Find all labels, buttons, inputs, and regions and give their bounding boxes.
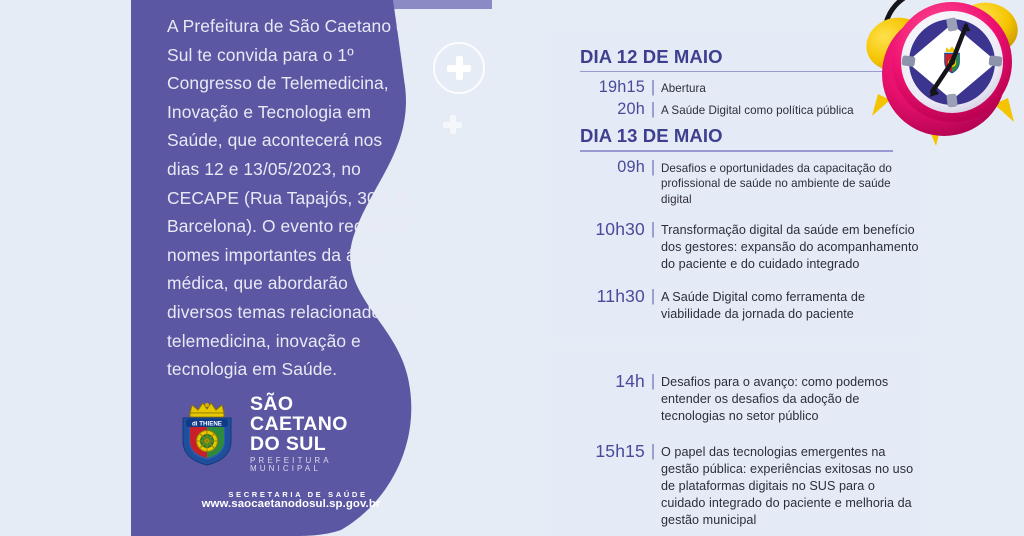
wordmark-line-1: SÃO (250, 394, 406, 414)
schedule-row: 11h30 | A Saúde Digital como ferramenta … (553, 287, 920, 323)
website-url: www.saocaetanodosul.sp.gov.br (176, 498, 406, 510)
schedule-time: 09h (553, 158, 645, 177)
schedule-separator: | (645, 372, 661, 391)
wordmark-line-2: CAETANO (250, 414, 406, 434)
day-divider (580, 71, 893, 72)
schedule-time: 11h30 (553, 287, 645, 306)
alarm-clock-icon (856, 0, 1024, 148)
schedule-card: 14h | Desafios para o avanço: como podem… (553, 354, 920, 536)
schedule-description: A Saúde Digital como ferramenta de viabi… (661, 287, 920, 323)
schedule-time: 20h (553, 100, 645, 119)
schedule-row: 10h30 | Transformação digital da saúde e… (553, 220, 920, 274)
schedule-separator: | (645, 287, 661, 306)
invitation-paragraph: A Prefeitura de São Caetano do Sul te co… (167, 12, 417, 384)
schedule-description: O papel das tecnologias emergentes na ge… (661, 442, 920, 530)
schedule-separator: | (645, 100, 661, 119)
poster-canvas: A Prefeitura de São Caetano do Sul te co… (0, 0, 1024, 536)
wordmark-line-3: DO SUL (250, 434, 406, 454)
schedule-row: 09h | Desafios e oportunidades da capaci… (553, 158, 920, 207)
svg-text:di THIENE: di THIENE (192, 420, 222, 427)
schedule-row: 14h | Desafios para o avanço: como podem… (553, 372, 920, 426)
schedule-time: 10h30 (553, 220, 645, 239)
schedule-time: 14h (553, 372, 645, 391)
schedule-day-group: DIA 13 DE MAIO 09h | Desafios e oportuni… (553, 125, 920, 323)
schedule-row: 15h15 | O papel das tecnologias emergent… (553, 442, 920, 530)
schedule-separator: | (645, 220, 661, 239)
city-crest-icon: di THIENE (176, 399, 238, 467)
day-divider (580, 150, 893, 151)
schedule-description: Transformação digital da saúde em benefí… (661, 220, 920, 274)
schedule-description: Desafios para o avanço: como podemos ent… (661, 372, 920, 426)
schedule-time: 15h15 (553, 442, 645, 461)
schedule-separator: | (645, 78, 661, 97)
wordmark-subtitle: PREFEITURA MUNICIPAL (250, 457, 406, 473)
schedule-time: 19h15 (553, 78, 645, 97)
plus-icon-decoration-1 (447, 56, 471, 80)
schedule-separator: | (645, 442, 661, 461)
city-wordmark: SÃO CAETANO DO SUL PREFEITURA MUNICIPAL (250, 392, 406, 473)
city-logo-block: di THIENE SÃO CAETANO DO SUL (176, 392, 406, 499)
schedule-separator: | (645, 158, 661, 177)
plus-icon-decoration-2 (443, 115, 462, 134)
schedule-description: Desafios e oportunidades da capacitação … (661, 158, 920, 207)
